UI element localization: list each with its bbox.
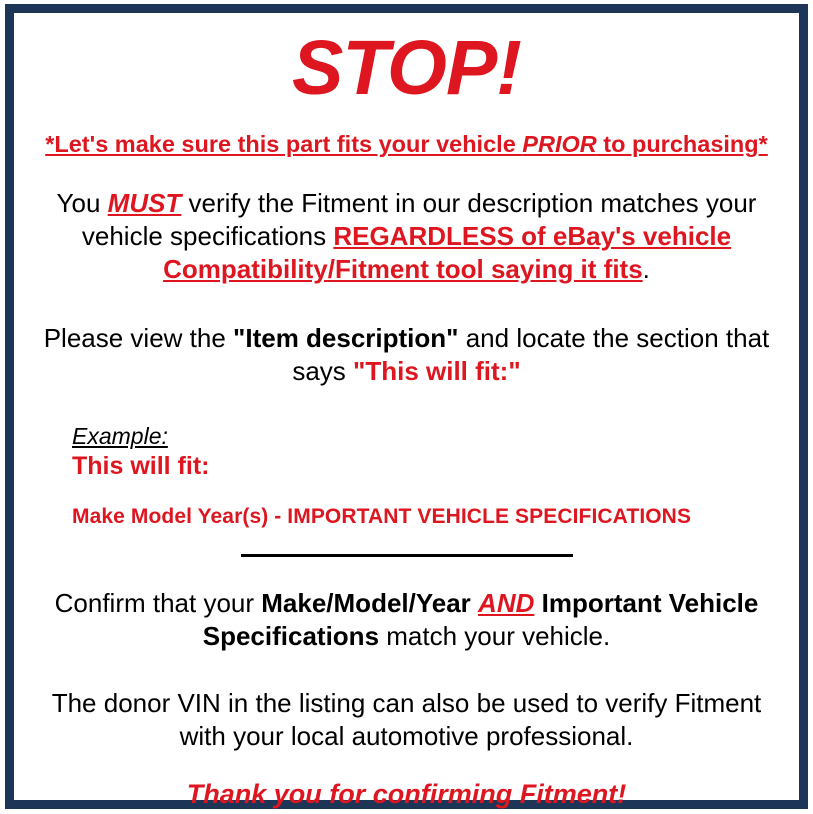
must-verify-text-1: You <box>57 188 108 218</box>
stop-heading: STOP! <box>30 13 783 111</box>
example-will-fit-label: This will fit: <box>72 451 783 482</box>
example-block: Example: This will fit: Make Model Year(… <box>30 422 783 530</box>
fitment-subtitle-before: *Let's make sure this part fits your veh… <box>45 131 522 157</box>
must-emphasis: MUST <box>108 188 182 218</box>
item-description-paragraph: Please view the "Item description" and l… <box>30 322 783 388</box>
must-verify-paragraph: You MUST verify the Fitment in our descr… <box>30 187 783 286</box>
this-will-fit-emphasis: "This will fit:" <box>353 356 521 386</box>
example-spec-line: Make Model Year(s) - IMPORTANT VEHICLE S… <box>72 504 783 530</box>
fitment-notice-body: STOP! *Let's make sure this part fits yo… <box>14 13 799 800</box>
item-description-text-1: Please view the <box>44 323 233 353</box>
make-model-year-emphasis: Make/Model/Year <box>261 588 471 618</box>
fitment-subtitle-prior-emphasis: PRIOR <box>522 131 596 157</box>
confirm-space-1 <box>471 588 478 618</box>
example-label: Example: <box>72 422 783 450</box>
must-verify-text-3: . <box>643 254 650 284</box>
and-emphasis: AND <box>478 588 534 618</box>
fitment-subtitle-after: to purchasing* <box>597 131 768 157</box>
confirm-space-2 <box>534 588 541 618</box>
donor-vin-paragraph: The donor VIN in the listing can also be… <box>30 687 783 753</box>
confirm-paragraph: Confirm that your Make/Model/Year AND Im… <box>30 587 783 653</box>
confirm-text-1: Confirm that your <box>55 588 262 618</box>
thank-you-line: Thank you for confirming Fitment! <box>30 777 783 811</box>
fitment-subtitle: *Let's make sure this part fits your veh… <box>30 129 783 159</box>
section-divider <box>241 554 573 557</box>
fitment-notice-card: STOP! *Let's make sure this part fits yo… <box>5 4 808 809</box>
confirm-text-2: match your vehicle. <box>379 621 610 651</box>
item-description-emphasis: "Item description" <box>233 323 458 353</box>
